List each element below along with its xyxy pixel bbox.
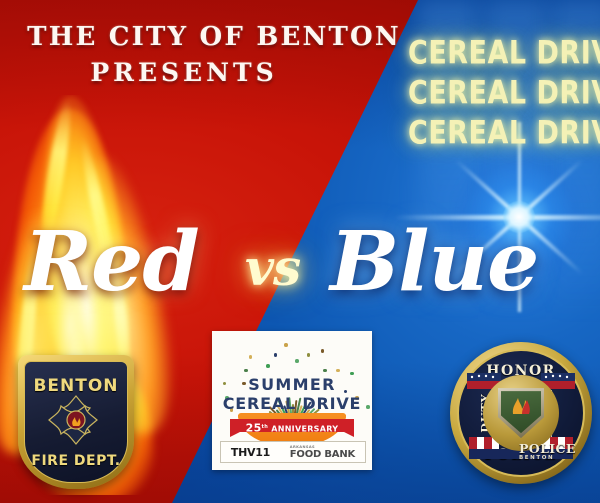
logo-line-summer: SUMMER: [212, 375, 372, 394]
police-badge-outer-ring: HONOR POLICE DUTY INTEGRITY: [457, 349, 585, 477]
cereal-drive-line-1: CEREAL DRIVE: [408, 34, 594, 73]
police-badge-shield-sub: BENTON: [519, 455, 523, 461]
anniversary-ribbon-text: 25th ANNIVERSARY: [230, 420, 354, 434]
cereal-drive-stack: CEREAL DRIVE CEREAL DRIVE CEREAL DRIVE: [408, 34, 594, 147]
benton-police-badge: HONOR POLICE DUTY INTEGRITY: [450, 342, 592, 484]
police-shield-icon: [498, 388, 544, 438]
logo-partners-bar: THV11 ARKANSAS FOOD BANK: [220, 441, 366, 463]
sunburst-dot: [274, 353, 278, 357]
sunburst-dot: [336, 369, 340, 373]
anniversary-ordinal: th: [262, 424, 269, 430]
police-badge-inner-ring: POLICE BENTON: [483, 375, 559, 451]
title-word-red: Red: [24, 214, 199, 310]
sunburst-dot: [266, 364, 270, 368]
fire-badge-inner: BENTON FIRE DEPT.: [24, 361, 128, 483]
page-title: THE CITY OF BENTON: [14, 22, 414, 52]
sunburst-dot: [249, 355, 253, 359]
partner-thv11-logo: THV11: [231, 446, 270, 459]
anniversary-number: 25: [246, 422, 262, 435]
cereal-drive-line-2: CEREAL DRIVE: [408, 74, 594, 113]
logo-line-cereal-drive: CEREAL DRIVE: [212, 394, 372, 413]
shield-emblem-icon: [507, 394, 535, 420]
police-badge-center: POLICE BENTON: [519, 411, 523, 415]
sunburst-dot: [321, 349, 325, 353]
anniversary-word: ANNIVERSARY: [271, 425, 338, 434]
poster-canvas: THE CITY OF BENTON PRESENTS CEREAL DRIVE…: [0, 0, 600, 503]
title-word-blue: Blue: [330, 214, 538, 310]
main-title: Red vs Blue: [0, 214, 600, 324]
sunburst-dot: [307, 353, 311, 357]
police-badge-shield-title: POLICE: [519, 441, 523, 456]
sunburst-dot: [295, 359, 299, 363]
partner-food-bank-name: FOOD BANK: [290, 449, 355, 460]
cereal-drive-line-3: CEREAL DRIVE: [408, 114, 594, 153]
sunburst-dot: [284, 343, 288, 347]
sunburst-dot: [323, 369, 327, 373]
fire-badge-bottom-text: FIRE DEPT.: [25, 453, 127, 469]
maltese-cross-icon: [46, 393, 106, 447]
partner-food-bank-logo: ARKANSAS FOOD BANK: [290, 445, 355, 460]
sunburst-dot: [244, 369, 248, 373]
benton-fire-dept-badge: BENTON FIRE DEPT.: [18, 355, 134, 489]
summer-cereal-drive-logo-card: SUMMER CEREAL DRIVE 25th ANNIVERSARY THV…: [212, 331, 372, 470]
presents-subtitle: PRESENTS: [14, 58, 354, 87]
title-word-vs: vs: [245, 238, 300, 297]
